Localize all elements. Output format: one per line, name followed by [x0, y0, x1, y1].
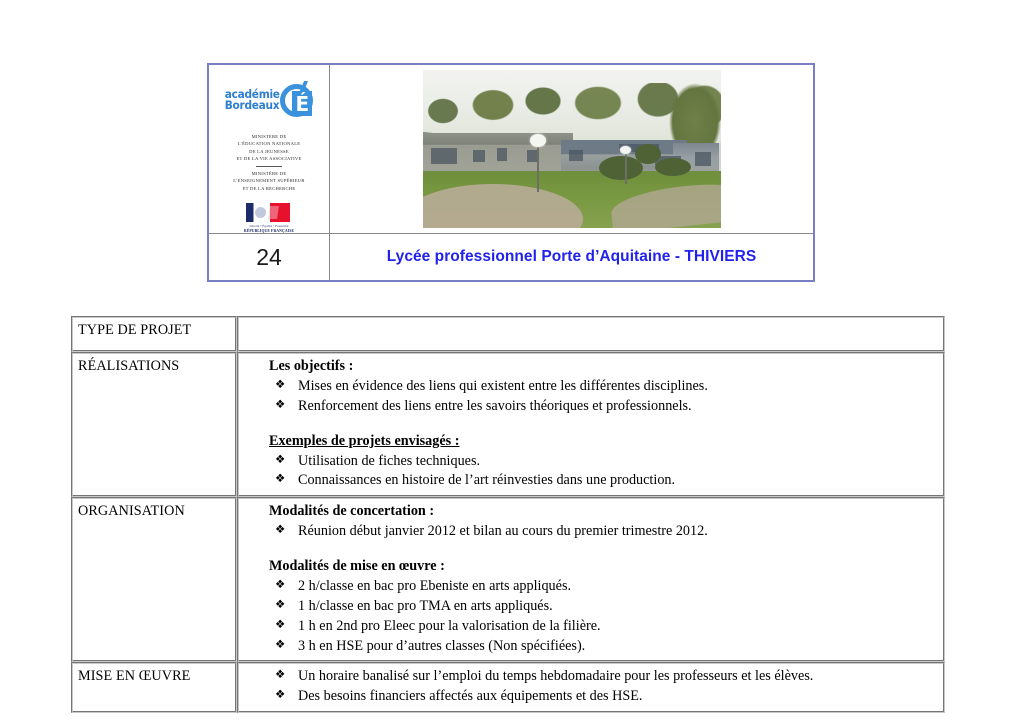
list-item: 1 h/classe en bac pro TMA en arts appliq… [298, 597, 938, 617]
photo-window [569, 150, 583, 161]
table-row-type-de-projet: TYPE DE PROJET [71, 316, 945, 352]
row-label: TYPE DE PROJET [71, 316, 237, 352]
flag-right-half [268, 203, 290, 222]
row-content: Modalités de concertation : Réunion débu… [237, 497, 945, 662]
list-item: 1 h en 2nd pro Eleec pour la valorisatio… [298, 617, 938, 637]
bullet-list: Un horaire banalisé sur l’emploi du temp… [244, 667, 938, 707]
academie-e-icon: É [280, 81, 318, 119]
list-item: 3 h en HSE pour d’autres classes (Non sp… [298, 637, 938, 657]
row-content: Un horaire banalisé sur l’emploi du temp… [237, 662, 945, 713]
ministry-line: L’ENSEIGNEMENT SUPÉRIEUR [215, 177, 323, 184]
photo-lamp-post [625, 152, 627, 184]
ministry-divider [256, 166, 282, 167]
republique-motto: Liberté • Égalité • Fraternité [249, 224, 288, 228]
bordeaux-label: Bordeaux [225, 100, 280, 112]
e-letter: É [296, 94, 310, 114]
photo-window [431, 148, 457, 164]
republique-name: RÉPUBLIQUE FRANÇAISE [244, 229, 294, 233]
photo-lamp-globe [530, 134, 546, 147]
row-content: Les objectifs : Mises en évidence des li… [237, 352, 945, 497]
ministry-line: MINISTÈRE DE [215, 170, 323, 177]
row-content-empty [237, 316, 945, 352]
academie-logo-cell: académie Bordeaux É MINISTERE DE L’ÉDUCA… [209, 65, 330, 233]
identity-top-row: académie Bordeaux É MINISTERE DE L’ÉDUCA… [209, 65, 813, 233]
list-item: Utilisation de fiches techniques. [298, 452, 938, 472]
photo-bush [655, 158, 691, 176]
identity-bottom-row: 24 Lycée professionnel Porte d’Aquitaine… [209, 233, 813, 280]
block-heading: Exemples de projets envisagés : [269, 432, 938, 451]
photo-lamp-globe [620, 146, 631, 154]
ministry-line: MINISTERE DE [215, 133, 323, 140]
school-identity-table: académie Bordeaux É MINISTERE DE L’ÉDUCA… [207, 63, 815, 282]
project-table-body: TYPE DE PROJET RÉALISATIONS Les objectif… [71, 316, 945, 713]
ministry-line: ET DE LA RECHERCHE [215, 185, 323, 192]
list-item: Connaissances en histoire de l’art réinv… [298, 471, 938, 491]
table-row-organisation: ORGANISATION Modalités de concertation :… [71, 497, 945, 662]
row-label: RÉALISATIONS [71, 352, 237, 497]
french-flag-icon [246, 203, 292, 222]
block-heading: Les objectifs : [269, 357, 938, 376]
photo-window [497, 148, 507, 161]
block-spacer [244, 542, 938, 557]
academie-bordeaux-logo: académie Bordeaux É [220, 79, 319, 122]
photo-bush [599, 156, 643, 180]
list-item: Des besoins financiers affectés aux équi… [298, 687, 938, 707]
list-item: Renforcement des liens entre les savoirs… [298, 397, 938, 417]
school-photo-cell [330, 65, 813, 233]
bullet-list: Mises en évidence des liens qui existent… [244, 377, 938, 417]
ministry-text-block: MINISTERE DE L’ÉDUCATION NATIONALE DE LA… [215, 133, 323, 192]
block-heading: Modalités de mise en œuvre : [269, 557, 938, 576]
table-row-realisations: RÉALISATIONS Les objectifs : Mises en év… [71, 352, 945, 497]
bullet-list: Réunion début janvier 2012 et bilan au c… [244, 522, 938, 542]
ministry-line: L’ÉDUCATION NATIONALE [215, 140, 323, 147]
department-number: 24 [209, 234, 330, 280]
bullet-list: 2 h/classe en bac pro Ebeniste en arts a… [244, 577, 938, 657]
academie-wordmark: académie Bordeaux [220, 89, 280, 112]
e-square-shape: É [292, 91, 312, 116]
list-item: 2 h/classe en bac pro Ebeniste en arts a… [298, 577, 938, 597]
bullet-list: Utilisation de fiches techniques. Connai… [244, 452, 938, 492]
school-photo [423, 70, 721, 228]
ministry-line: ET DE LA VIE ASSOCIATIVE [215, 155, 323, 162]
photo-window [695, 152, 711, 166]
photo-lamp-post [537, 140, 539, 192]
republique-francaise-logo: Liberté • Égalité • Fraternité RÉPUBLIQU… [241, 203, 297, 233]
block-spacer [244, 417, 938, 432]
school-title: Lycée professionnel Porte d’Aquitaine - … [330, 234, 813, 280]
photo-window [473, 150, 485, 162]
photo-bush [635, 144, 661, 164]
list-item: Mises en évidence des liens qui existent… [298, 377, 938, 397]
flag-left-half [246, 203, 268, 222]
row-label: ORGANISATION [71, 497, 237, 662]
row-label: MISE EN ŒUVRE [71, 662, 237, 713]
table-row-mise-en-oeuvre: MISE EN ŒUVRE Un horaire banalisé sur l’… [71, 662, 945, 713]
block-heading: Modalités de concertation : [269, 502, 938, 521]
list-item: Réunion début janvier 2012 et bilan au c… [298, 522, 938, 542]
project-details-table: TYPE DE PROJET RÉALISATIONS Les objectif… [71, 316, 945, 713]
list-item: Un horaire banalisé sur l’emploi du temp… [298, 667, 938, 687]
ministry-line: DE LA JEUNESSE [215, 148, 323, 155]
